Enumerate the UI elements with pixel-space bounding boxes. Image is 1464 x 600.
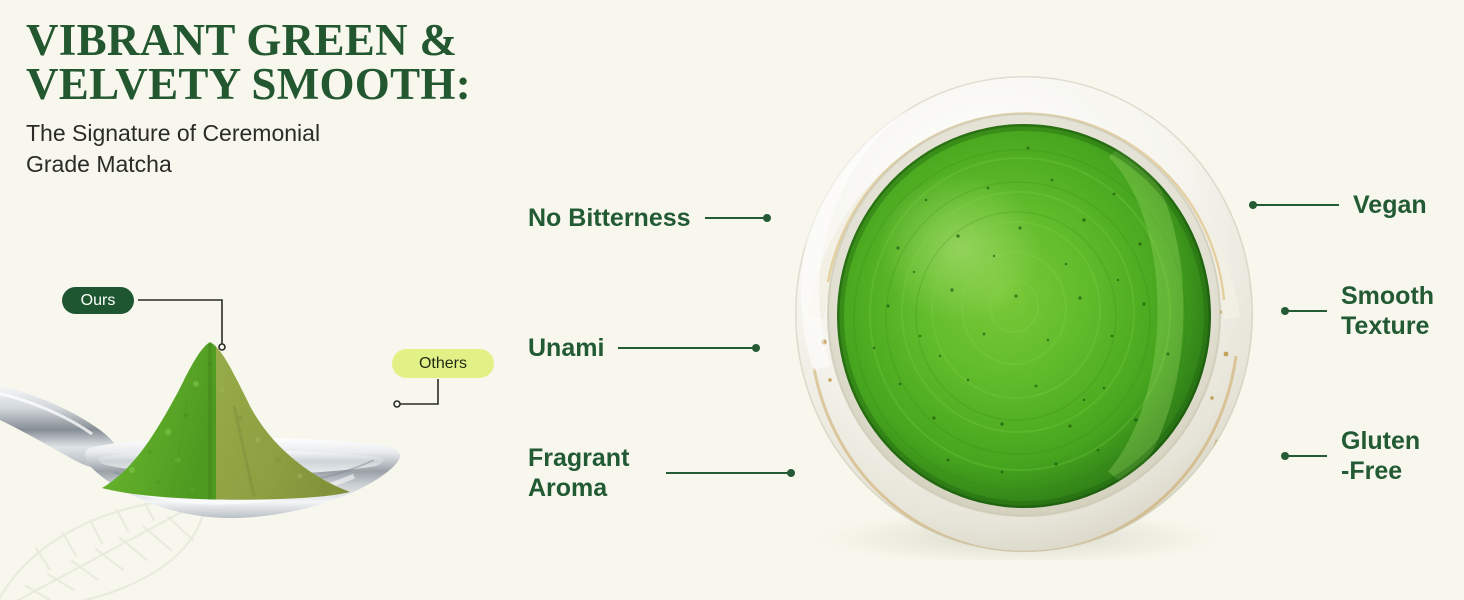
callout-unami: Unami bbox=[528, 333, 756, 363]
callout-smooth-texture: Smooth Texture bbox=[1285, 281, 1434, 341]
leader-line-no-bitterness bbox=[705, 217, 767, 219]
callout-vegan: Vegan bbox=[1253, 190, 1427, 220]
badge-others[interactable]: Others bbox=[392, 349, 494, 378]
leader-line-vegan bbox=[1253, 204, 1339, 206]
leader-line-gluten-free bbox=[1285, 455, 1327, 457]
page-subtitle: The Signature of Ceremonial Grade Matcha bbox=[26, 118, 566, 180]
callout-gluten-free: Gluten -Free bbox=[1285, 426, 1420, 486]
badge-ours[interactable]: Ours bbox=[62, 287, 134, 314]
callout-fragrant-aroma-label: Fragrant Aroma bbox=[528, 443, 652, 503]
leader-line-fragrant-aroma bbox=[666, 472, 791, 474]
matcha-bowl-image bbox=[788, 68, 1260, 560]
badge-others-label: Others bbox=[419, 356, 467, 372]
leader-line-unami bbox=[618, 347, 756, 349]
badge-ours-label: Ours bbox=[81, 293, 116, 309]
callout-unami-label: Unami bbox=[528, 333, 604, 363]
callout-fragrant-aroma: Fragrant Aroma bbox=[528, 443, 791, 503]
callout-no-bitterness-label: No Bitterness bbox=[528, 203, 691, 233]
page-title: VIBRANT GREEN & VELVETY SMOOTH: bbox=[26, 18, 566, 106]
headline-block: VIBRANT GREEN & VELVETY SMOOTH: The Sign… bbox=[26, 18, 566, 180]
callout-gluten-free-label: Gluten -Free bbox=[1341, 426, 1420, 486]
callout-no-bitterness: No Bitterness bbox=[528, 203, 767, 233]
infographic-canvas: VIBRANT GREEN & VELVETY SMOOTH: The Sign… bbox=[0, 0, 1464, 600]
leader-line-smooth-texture bbox=[1285, 310, 1327, 312]
callout-smooth-texture-label: Smooth Texture bbox=[1341, 281, 1434, 341]
callout-vegan-label: Vegan bbox=[1353, 190, 1427, 220]
